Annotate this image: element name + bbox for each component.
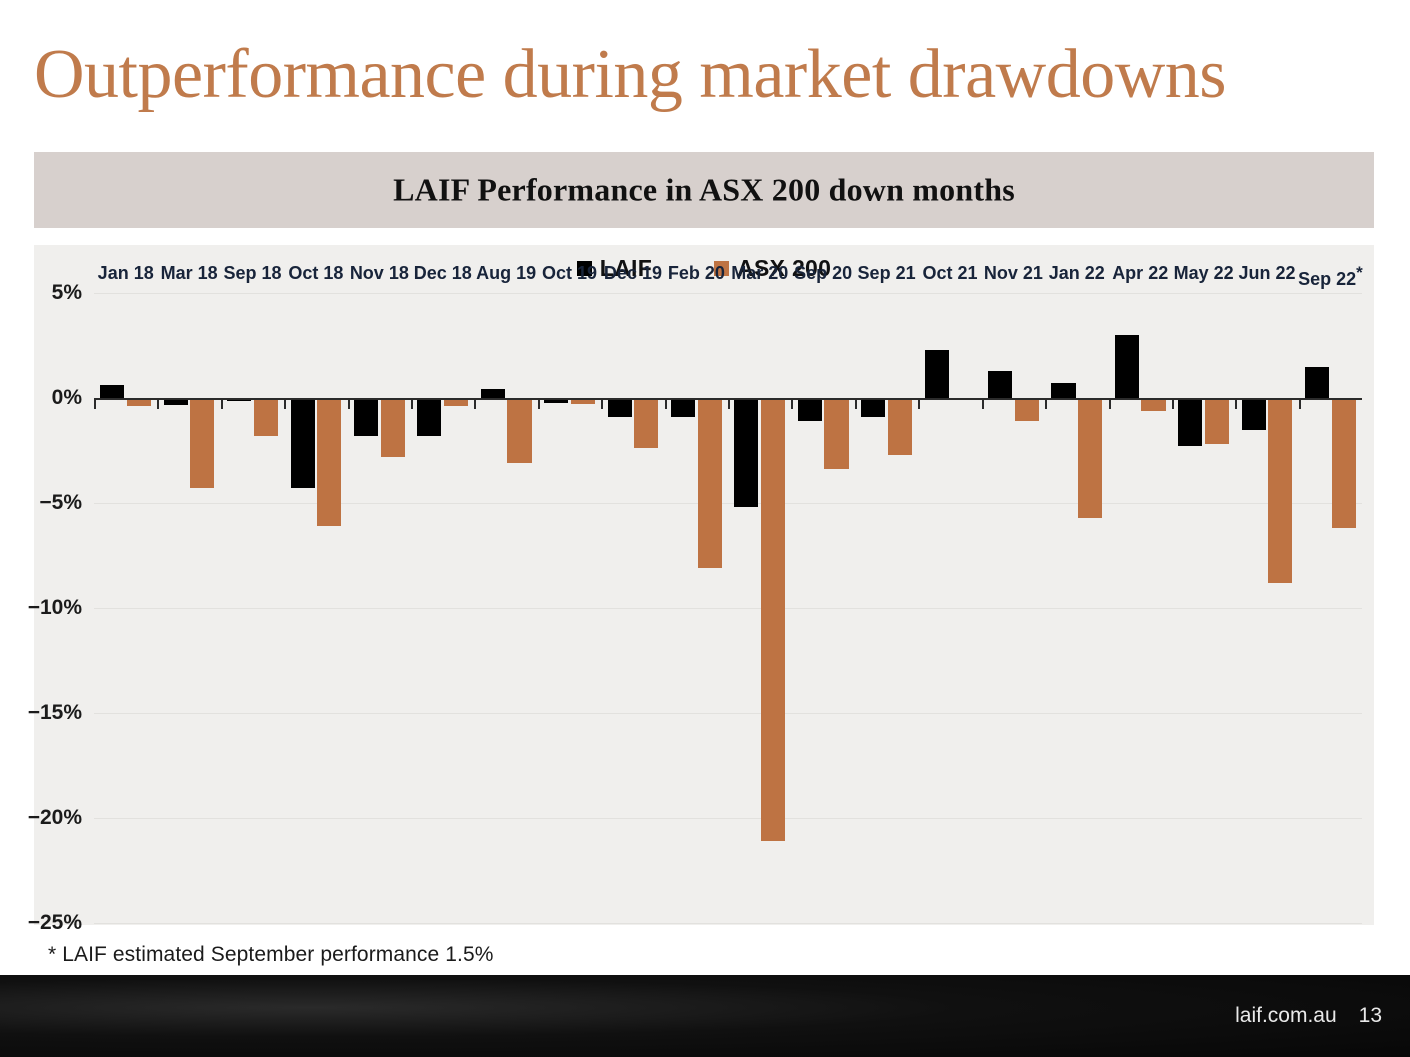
bar-laif bbox=[925, 350, 949, 398]
bar-group: Apr 22 bbox=[1109, 293, 1172, 923]
footer-website: laif.com.au bbox=[1235, 1004, 1337, 1028]
bar-group: Sep 20 bbox=[791, 293, 854, 923]
bar-group: Mar 20 bbox=[728, 293, 791, 923]
bar-asx-200 bbox=[190, 398, 214, 488]
x-axis-tick-label: Jan 22 bbox=[1049, 263, 1105, 284]
bar-laif bbox=[988, 371, 1012, 398]
bar-asx-200 bbox=[824, 398, 848, 469]
x-axis-tick-label: Sep 22* bbox=[1298, 263, 1363, 290]
x-axis-tick-label: Apr 22 bbox=[1112, 263, 1168, 284]
bar-asx-200 bbox=[1205, 398, 1229, 444]
x-axis-tick-label: Oct 19 bbox=[542, 263, 597, 284]
chart-header-band: LAIF Performance in ASX 200 down months bbox=[34, 152, 1374, 228]
bar-laif bbox=[671, 398, 695, 417]
bar-group: Feb 20 bbox=[665, 293, 728, 923]
page-number: 13 bbox=[1359, 1004, 1382, 1028]
bar-laif bbox=[1178, 398, 1202, 446]
bar-group: Oct 19 bbox=[538, 293, 601, 923]
bar-laif bbox=[608, 398, 632, 417]
y-axis-tick-label: −25% bbox=[28, 911, 82, 935]
bar-asx-200 bbox=[254, 398, 278, 436]
bar-group: Nov 18 bbox=[348, 293, 411, 923]
x-axis-tick-label: Oct 21 bbox=[922, 263, 977, 284]
bar-laif bbox=[861, 398, 885, 417]
chart-footnote: * LAIF estimated September performance 1… bbox=[48, 943, 494, 967]
bar-columns: Jan 18Mar 18Sep 18Oct 18Nov 18Dec 18Aug … bbox=[94, 293, 1362, 923]
chart-title: LAIF Performance in ASX 200 down months bbox=[34, 172, 1374, 209]
bar-asx-200 bbox=[1015, 398, 1039, 421]
bar-laif bbox=[1305, 367, 1329, 399]
bar-laif bbox=[798, 398, 822, 421]
plot-area: 5%0%−5%−10%−15%−20%−25% Jan 18Mar 18Sep … bbox=[94, 293, 1362, 923]
chart-panel: LAIFASX 200 5%0%−5%−10%−15%−20%−25% Jan … bbox=[34, 245, 1374, 925]
bar-laif bbox=[1115, 335, 1139, 398]
bar-laif bbox=[291, 398, 315, 488]
bar-group: May 22 bbox=[1172, 293, 1235, 923]
bar-group: Oct 21 bbox=[918, 293, 981, 923]
footer-right: laif.com.au 13 bbox=[1235, 1004, 1382, 1028]
bar-laif bbox=[734, 398, 758, 507]
bar-laif bbox=[481, 389, 505, 398]
bar-asx-200 bbox=[698, 398, 722, 568]
x-axis-tick-label: Sep 18 bbox=[223, 263, 281, 284]
x-axis-tick-label: Mar 18 bbox=[161, 263, 218, 284]
x-axis-tick-label: Dec 18 bbox=[414, 263, 472, 284]
x-axis-tick-label: Nov 21 bbox=[984, 263, 1043, 284]
x-axis-tick-label: Oct 18 bbox=[288, 263, 343, 284]
bar-laif bbox=[1051, 383, 1075, 398]
bar-group: Jan 18 bbox=[94, 293, 157, 923]
bar-asx-200 bbox=[1078, 398, 1102, 518]
x-axis-tick-label: Aug 19 bbox=[476, 263, 536, 284]
bar-laif bbox=[354, 398, 378, 436]
bar-group: Sep 22* bbox=[1299, 293, 1362, 923]
y-axis-tick-label: −10% bbox=[28, 596, 82, 620]
x-axis-tick-label: Nov 18 bbox=[350, 263, 409, 284]
y-axis-tick-label: −15% bbox=[28, 701, 82, 725]
bar-group: Jan 22 bbox=[1045, 293, 1108, 923]
x-axis-tick-label: Feb 20 bbox=[668, 263, 725, 284]
bar-asx-200 bbox=[1268, 398, 1292, 583]
y-axis-tick-label: 5% bbox=[52, 281, 82, 305]
bar-asx-200 bbox=[381, 398, 405, 457]
x-axis-tick-label: Dec 19 bbox=[604, 263, 662, 284]
bar-group: Dec 18 bbox=[411, 293, 474, 923]
bar-laif bbox=[1242, 398, 1266, 430]
bar-asx-200 bbox=[888, 398, 912, 455]
y-axis-tick-label: −5% bbox=[39, 491, 82, 515]
bar-group: Oct 18 bbox=[284, 293, 347, 923]
zero-axis-line bbox=[94, 398, 1362, 400]
x-axis-tick-label: Jan 18 bbox=[98, 263, 154, 284]
bar-group: Dec 19 bbox=[601, 293, 664, 923]
bar-laif bbox=[100, 385, 124, 398]
bar-group: Aug 19 bbox=[474, 293, 537, 923]
footer-band: laif.com.au 13 bbox=[0, 975, 1410, 1057]
page-title: Outperformance during market drawdowns bbox=[34, 38, 1374, 112]
footnote-asterisk-icon: * bbox=[1356, 263, 1363, 282]
x-axis-tick-label: Sep 21 bbox=[858, 263, 916, 284]
gridline bbox=[94, 923, 1362, 924]
bar-group: Sep 21 bbox=[855, 293, 918, 923]
bar-asx-200 bbox=[507, 398, 531, 463]
bar-group: Jun 22 bbox=[1235, 293, 1298, 923]
y-axis-tick-label: 0% bbox=[52, 386, 82, 410]
bar-asx-200 bbox=[317, 398, 341, 526]
bar-group: Sep 18 bbox=[221, 293, 284, 923]
bar-group: Mar 18 bbox=[157, 293, 220, 923]
x-axis-tick-label: Mar 20 bbox=[731, 263, 788, 284]
y-axis-tick-label: −20% bbox=[28, 806, 82, 830]
x-axis-tick-label: May 22 bbox=[1174, 263, 1234, 284]
bar-group: Nov 21 bbox=[982, 293, 1045, 923]
bar-asx-200 bbox=[634, 398, 658, 448]
bar-laif bbox=[417, 398, 441, 436]
x-axis-tick-label: Sep 20 bbox=[794, 263, 852, 284]
slide: Outperformance during market drawdowns L… bbox=[0, 0, 1410, 1057]
bar-asx-200 bbox=[1332, 398, 1356, 528]
bar-asx-200 bbox=[761, 398, 785, 841]
x-axis-tick-label: Jun 22 bbox=[1239, 263, 1296, 284]
